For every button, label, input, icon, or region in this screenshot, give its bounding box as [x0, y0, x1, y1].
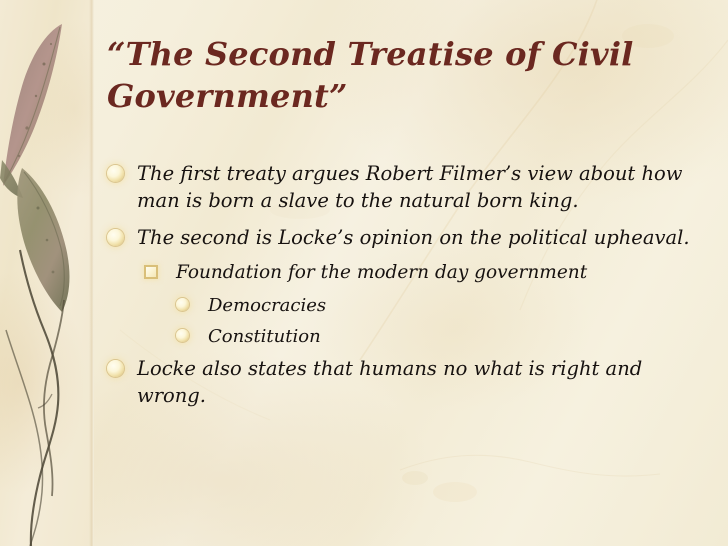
list-item: The second is Locke’s opinion on the pol… — [104, 224, 704, 251]
list-item: Locke also states that humans no what is… — [104, 355, 704, 410]
bullet-square-icon — [144, 265, 158, 279]
slide-body: The first treaty argues Robert Filmer’s … — [104, 160, 704, 419]
bullet-circle-icon — [107, 360, 124, 377]
bullet-circle-icon — [107, 229, 124, 246]
list-item: The first treaty argues Robert Filmer’s … — [104, 160, 704, 215]
list-item: Constitution — [104, 324, 704, 349]
list-item-label: Locke also states that humans no what is… — [137, 355, 704, 410]
slide-canvas: “The Second Treatise of Civil Government… — [0, 0, 728, 546]
bullet-circle-icon — [176, 329, 189, 342]
list-item: Democracies — [104, 293, 704, 318]
list-item-label: The first treaty argues Robert Filmer’s … — [137, 160, 704, 215]
list-item-label: The second is Locke’s opinion on the pol… — [137, 224, 704, 251]
bullet-circle-icon — [107, 165, 124, 182]
bullet-circle-icon — [176, 298, 189, 311]
list-item-label: Constitution — [208, 324, 704, 349]
eucalyptus-leaf-icon — [0, 0, 94, 546]
page-title: “The Second Treatise of Civil Government… — [107, 33, 667, 117]
list-item-label: Foundation for the modern day government — [176, 260, 704, 286]
list-item-label: Democracies — [208, 293, 704, 318]
left-decorative-border — [0, 0, 94, 546]
list-item: Foundation for the modern day government — [104, 260, 704, 286]
left-panel-edge — [89, 0, 94, 546]
